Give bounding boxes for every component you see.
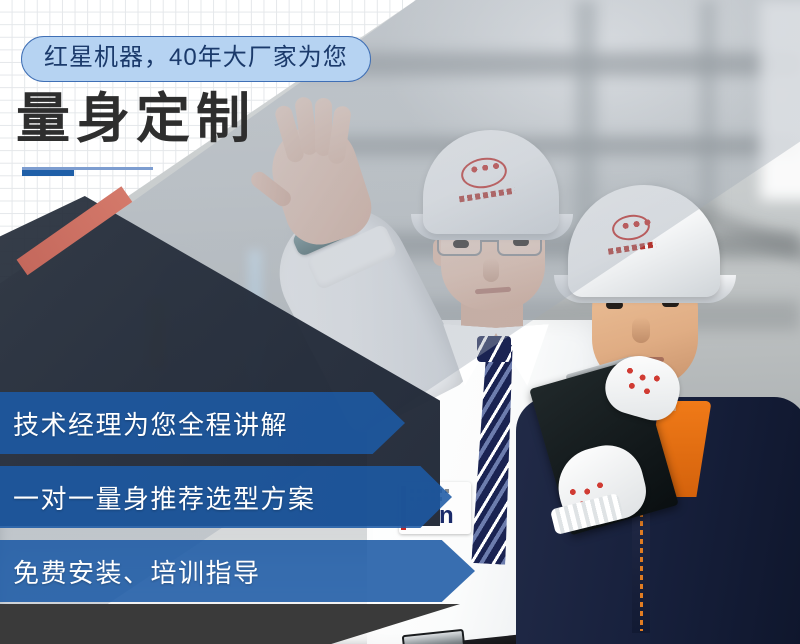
necktie-knot: [477, 336, 511, 362]
brand-name-text: [608, 241, 656, 254]
safety-helmet-icon: [568, 185, 720, 297]
title-underline-thick: [22, 170, 74, 176]
feature-label: 免费安装、培训指导: [13, 553, 261, 590]
feature-label: 技术经理为您全程讲解: [13, 405, 288, 442]
safety-helmet-icon: [423, 130, 559, 234]
page-title: 量身定制: [16, 92, 256, 146]
badge-letter: n: [439, 504, 454, 528]
brand-name-text: [459, 188, 515, 203]
glove-grip-dots: [620, 366, 668, 403]
window-light-icon: [760, 0, 800, 200]
eye: [453, 240, 469, 248]
nose: [483, 258, 499, 282]
feature-label: 一对一量身推荐选型方案: [13, 479, 316, 516]
feature-banner-1: 技术经理为您全程讲解: [0, 392, 405, 454]
worker-right: [540, 185, 800, 644]
brand-logo-icon: [459, 155, 509, 192]
promo-banner: n: [0, 0, 800, 644]
bridge: [482, 240, 497, 242]
nose: [632, 317, 650, 343]
brand-logo-icon: [610, 212, 651, 243]
tagline-pill: 红星机器，40年大厂家为您: [21, 36, 371, 82]
feature-banner-2: 一对一量身推荐选型方案: [0, 466, 452, 528]
ceiling-beam-icon: [300, 52, 800, 76]
feature-banner-3: 免费安装、培训指导: [0, 540, 475, 602]
